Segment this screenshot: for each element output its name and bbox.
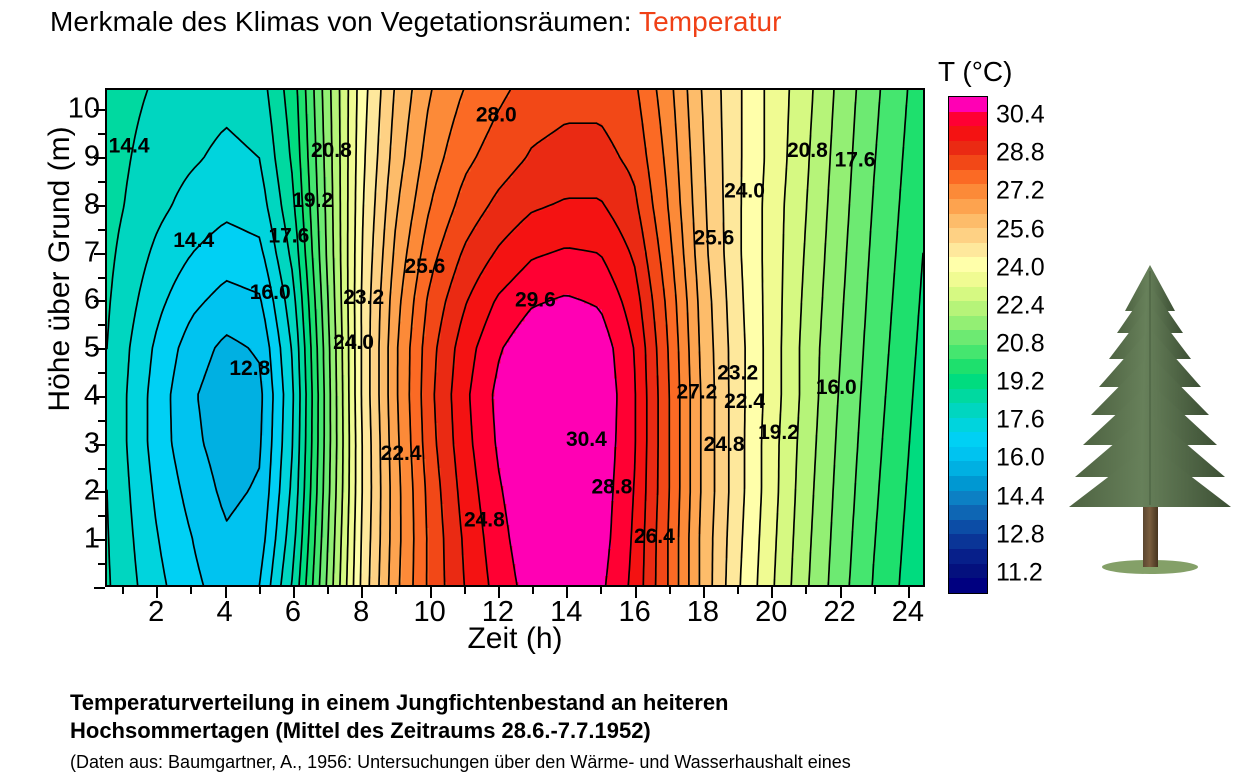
contour-label: 28.0 bbox=[476, 104, 517, 127]
colorbar-band bbox=[949, 491, 987, 506]
y-tick-mark bbox=[94, 109, 105, 111]
colorbar-band bbox=[949, 374, 987, 389]
x-tick-mark bbox=[805, 587, 807, 594]
contour-label: 29.6 bbox=[515, 288, 556, 311]
contour-label: 20.8 bbox=[787, 139, 828, 162]
y-tick-label: 10 bbox=[40, 95, 100, 124]
contour-label: 27.2 bbox=[676, 381, 717, 404]
contour-label: 24.8 bbox=[704, 433, 745, 456]
x-tick-mark bbox=[464, 587, 466, 594]
figure: Höhe über Grund (m) 12345678910 14.414.4… bbox=[0, 62, 1050, 682]
x-tick-mark bbox=[361, 587, 363, 598]
contour-label: 30.4 bbox=[566, 428, 607, 451]
y-tick-mark bbox=[98, 229, 105, 231]
x-tick-mark bbox=[840, 587, 842, 598]
y-tick-mark bbox=[98, 420, 105, 422]
x-tick-mark bbox=[771, 587, 773, 598]
contour-label: 23.2 bbox=[717, 362, 758, 385]
y-tick-mark bbox=[98, 133, 105, 135]
y-tick-mark bbox=[94, 587, 105, 589]
contour-label: 22.4 bbox=[381, 442, 422, 465]
x-axis-title: Zeit (h) bbox=[105, 622, 925, 656]
x-tick-mark bbox=[532, 587, 534, 594]
y-tick-mark bbox=[94, 300, 105, 302]
colorbar-tick-label: 28.8 bbox=[996, 141, 1045, 166]
contour-label: 25.6 bbox=[693, 227, 734, 250]
colorbar-band bbox=[949, 330, 987, 345]
colorbar-band bbox=[949, 564, 987, 579]
y-tick-label: 6 bbox=[40, 286, 100, 315]
y-tick-mark bbox=[94, 348, 105, 350]
x-tick-mark bbox=[395, 587, 397, 594]
y-tick-label: 9 bbox=[40, 143, 100, 172]
x-tick-mark bbox=[635, 587, 637, 598]
y-tick-label: 5 bbox=[40, 334, 100, 363]
x-tick-mark bbox=[669, 587, 671, 594]
colorbar-band bbox=[949, 578, 987, 593]
contour-label: 16.0 bbox=[816, 376, 857, 399]
y-tick-label: 1 bbox=[40, 525, 100, 554]
y-tick-mark bbox=[98, 563, 105, 565]
contour-label: 24.0 bbox=[333, 331, 374, 354]
colorbar-tick-label: 24.0 bbox=[996, 255, 1045, 280]
caption-line-1: Temperaturverteilung in einem Jungfichte… bbox=[70, 690, 729, 716]
colorbar-band bbox=[949, 432, 987, 447]
page-title-main: Merkmale des Klimas von Vegetationsräume… bbox=[50, 6, 639, 37]
colorbar-tick-label: 11.2 bbox=[996, 560, 1043, 585]
page-title-accent: Temperatur bbox=[639, 6, 782, 37]
slide-root: Merkmale des Klimas von Vegetationsräume… bbox=[0, 0, 1247, 781]
y-tick-mark bbox=[98, 515, 105, 517]
colorbar-band bbox=[949, 287, 987, 302]
x-tick-mark bbox=[498, 587, 500, 598]
contour-label: 17.6 bbox=[268, 224, 309, 247]
colorbar-band bbox=[949, 389, 987, 404]
contour-label: 25.6 bbox=[404, 255, 445, 278]
contour-label: 23.2 bbox=[343, 286, 384, 309]
y-tick-label: 8 bbox=[40, 190, 100, 219]
colorbar-tick-label: 20.8 bbox=[996, 332, 1045, 357]
colorbar-band bbox=[949, 243, 987, 258]
colorbar-band bbox=[949, 97, 987, 112]
x-tick-mark bbox=[293, 587, 295, 598]
y-tick-mark bbox=[98, 324, 105, 326]
contour-label: 16.0 bbox=[250, 281, 291, 304]
colorbar-tick-label: 19.2 bbox=[996, 370, 1045, 395]
colorbar-band bbox=[949, 447, 987, 462]
y-tick-mark bbox=[94, 539, 105, 541]
contour-label: 28.8 bbox=[591, 475, 632, 498]
colorbar-tick-label: 14.4 bbox=[996, 484, 1045, 509]
colorbar-band bbox=[949, 199, 987, 214]
colorbar-band bbox=[949, 257, 987, 272]
colorbar-band bbox=[949, 403, 987, 418]
colorbar-band bbox=[949, 534, 987, 549]
contour-label: 14.4 bbox=[109, 134, 150, 157]
page-title: Merkmale des Klimas von Vegetationsräume… bbox=[50, 6, 782, 38]
colorbar-band bbox=[949, 228, 987, 243]
colorbar-tick-label: 16.0 bbox=[996, 446, 1045, 471]
contour-plot-area: 14.414.420.819.217.616.023.224.025.612.8… bbox=[105, 88, 925, 587]
x-tick-mark bbox=[600, 587, 602, 594]
colorbar-band bbox=[949, 345, 987, 360]
x-tick-mark bbox=[156, 587, 158, 598]
colorbar-band bbox=[949, 272, 987, 287]
y-tick-mark bbox=[98, 181, 105, 183]
contour-label: 12.8 bbox=[229, 357, 270, 380]
contour-label: 19.2 bbox=[292, 189, 333, 212]
colorbar-band bbox=[949, 141, 987, 156]
contour-label: 24.0 bbox=[724, 179, 765, 202]
contour-plot-svg: 14.414.420.819.217.616.023.224.025.612.8… bbox=[107, 90, 923, 585]
y-tick-mark bbox=[94, 491, 105, 493]
colorbar-band bbox=[949, 520, 987, 535]
x-tick-mark bbox=[225, 587, 227, 598]
y-tick-label: 3 bbox=[40, 429, 100, 458]
x-tick-mark bbox=[908, 587, 910, 598]
y-tick-label: 7 bbox=[40, 238, 100, 267]
x-tick-mark bbox=[122, 587, 124, 594]
colorbar-band bbox=[949, 170, 987, 185]
colorbar-band bbox=[949, 301, 987, 316]
contour-label: 26.4 bbox=[634, 525, 675, 548]
x-tick-mark bbox=[874, 587, 876, 594]
x-tick-mark bbox=[259, 587, 261, 594]
colorbar-band bbox=[949, 112, 987, 127]
colorbar-tick-label: 17.6 bbox=[996, 408, 1045, 433]
spruce-tree-image bbox=[1055, 255, 1245, 585]
y-tick-mark bbox=[94, 444, 105, 446]
x-tick-mark bbox=[703, 587, 705, 598]
colorbar-band bbox=[949, 155, 987, 170]
y-tick-mark bbox=[98, 372, 105, 374]
y-tick-mark bbox=[94, 253, 105, 255]
colorbar-band bbox=[949, 214, 987, 229]
colorbar-band bbox=[949, 184, 987, 199]
colorbar-band bbox=[949, 476, 987, 491]
colorbar-tick-label: 30.4 bbox=[996, 103, 1045, 128]
colorbar-band bbox=[949, 316, 987, 331]
x-tick-mark bbox=[327, 587, 329, 594]
colorbar-tick-label: 27.2 bbox=[996, 179, 1045, 204]
y-axis-ticklabels: 12345678910 bbox=[30, 88, 100, 587]
y-tick-mark bbox=[98, 277, 105, 279]
y-tick-label: 2 bbox=[40, 477, 100, 506]
colorbar-title: T (°C) bbox=[938, 56, 1012, 88]
colorbar-tick-label: 25.6 bbox=[996, 217, 1045, 242]
colorbar-band bbox=[949, 418, 987, 433]
y-tick-mark bbox=[94, 157, 105, 159]
colorbar-band bbox=[949, 461, 987, 476]
x-tick-mark bbox=[190, 587, 192, 594]
caption-source: (Daten aus: Baumgartner, A., 1956: Unter… bbox=[70, 752, 851, 773]
contour-label: 20.8 bbox=[311, 139, 352, 162]
contour-label: 14.4 bbox=[173, 229, 214, 252]
contour-label: 24.8 bbox=[464, 509, 505, 532]
colorbar-band bbox=[949, 549, 987, 564]
caption-line-2: Hochsommertagen (Mittel des Zeitraums 28… bbox=[70, 718, 651, 744]
colorbar-band bbox=[949, 359, 987, 374]
contour-label: 19.2 bbox=[758, 421, 799, 444]
y-tick-mark bbox=[94, 396, 105, 398]
x-tick-mark bbox=[430, 587, 432, 598]
y-tick-mark bbox=[98, 468, 105, 470]
x-tick-mark bbox=[566, 587, 568, 598]
y-tick-label: 4 bbox=[40, 381, 100, 410]
contour-label: 17.6 bbox=[835, 149, 876, 172]
colorbar-band bbox=[949, 505, 987, 520]
colorbar-tick-label: 12.8 bbox=[996, 522, 1045, 547]
x-tick-mark bbox=[737, 587, 739, 594]
colorbar-band bbox=[949, 126, 987, 141]
colorbar bbox=[948, 96, 988, 594]
colorbar-tick-label: 22.4 bbox=[996, 293, 1045, 318]
y-tick-mark bbox=[94, 205, 105, 207]
contour-label: 22.4 bbox=[724, 390, 765, 413]
